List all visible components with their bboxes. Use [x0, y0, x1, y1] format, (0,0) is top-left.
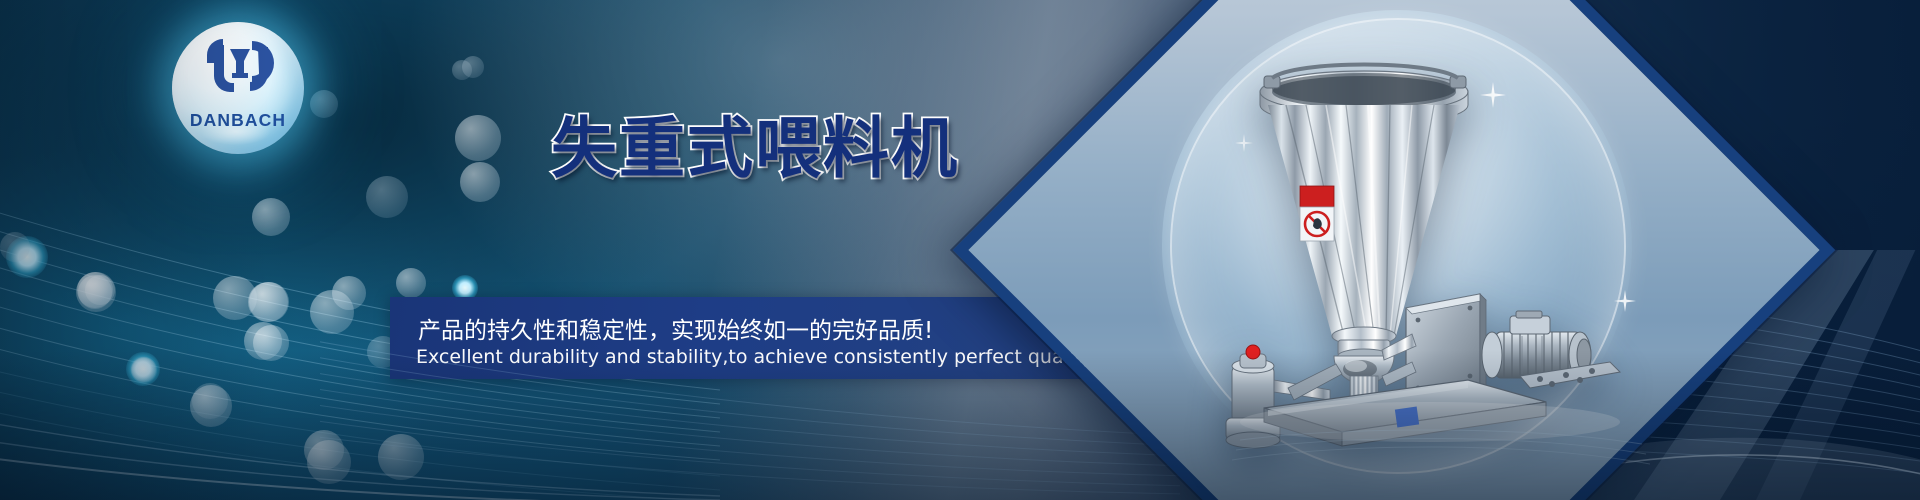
indicator-light: [1246, 345, 1260, 359]
background-bubble: [304, 430, 344, 470]
loss-in-weight-feeder-image: [1168, 58, 1688, 458]
tagline-english: Excellent durability and stability,to ac…: [416, 346, 1100, 368]
background-bubble: [249, 282, 289, 322]
background-bubble: [253, 325, 289, 361]
background-bubble: [77, 272, 113, 308]
background-bubble: [310, 90, 338, 118]
background-bubble: [85, 275, 115, 305]
background-glow-dot: [126, 352, 160, 386]
background-bubble: [132, 358, 156, 382]
tagline-chinese: 产品的持久性和稳定性，实现始终如一的完好品质!: [418, 311, 933, 345]
background-glow-dot: [6, 236, 48, 278]
background-bubble: [213, 276, 257, 320]
background-bubble: [396, 268, 426, 298]
warning-label-red: [1300, 186, 1334, 207]
danbach-logo[interactable]: DANBACH: [172, 22, 304, 154]
background-bubble: [455, 115, 501, 161]
background-bubble: [452, 60, 472, 80]
background-bubble: [378, 434, 424, 480]
page-title: 失重式喂料机: [551, 116, 959, 182]
background-bubble: [366, 176, 408, 218]
tagline-panel: 产品的持久性和稳定性，实现始终如一的完好品质! Excellent durabi…: [390, 297, 1090, 379]
blue-marker: [1395, 407, 1419, 428]
background-bubble: [131, 357, 157, 383]
background-bubble: [78, 275, 112, 309]
background-bubble: [332, 276, 366, 310]
background-bubble: [244, 322, 282, 360]
danbach-wordmark: DANBACH: [172, 110, 304, 131]
background-bubble: [252, 198, 290, 236]
background-bubble: [462, 56, 484, 78]
background-bubble: [76, 272, 116, 312]
background-bubble: [307, 440, 351, 484]
background-bubble: [460, 162, 500, 202]
danbach-mark-icon: [172, 39, 304, 101]
background-bubble: [190, 385, 232, 427]
background-bubble: [248, 282, 288, 322]
background-bubble: [192, 383, 228, 419]
background-bubble: [310, 290, 354, 334]
product-banner: DANBACH 失重式喂料机 产品的持久性和稳定性，实现始终如一的完好品质! E…: [0, 0, 1920, 500]
background-bubble: [0, 232, 30, 262]
